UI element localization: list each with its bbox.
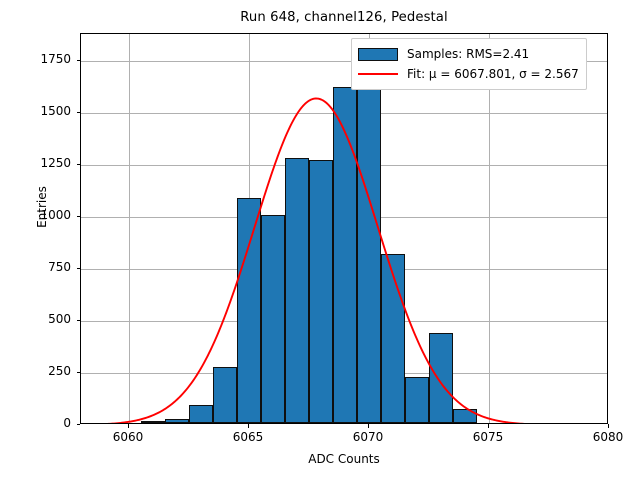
x-tick-label: 6065 — [208, 430, 288, 444]
y-tick-label: 500 — [5, 312, 71, 326]
legend-patch-icon — [358, 48, 398, 61]
x-tick-mark — [128, 424, 129, 428]
figure-canvas: Run 648, channel126, Pedestal Entries AD… — [0, 0, 640, 480]
x-tick-mark — [248, 424, 249, 428]
x-axis-label: ADC Counts — [80, 452, 608, 466]
gaussian-fit-curve — [81, 34, 607, 423]
y-tick-label: 1500 — [5, 104, 71, 118]
x-tick-label: 6075 — [448, 430, 528, 444]
legend-label-fit: Fit: μ = 6067.801, σ = 2.567 — [407, 67, 579, 81]
x-tick-label: 6070 — [328, 430, 408, 444]
y-tick-label: 0 — [5, 416, 71, 430]
legend-line-icon — [358, 67, 398, 81]
x-tick-mark — [608, 424, 609, 428]
x-tick-label: 6080 — [568, 430, 640, 444]
y-tick-label: 1250 — [5, 156, 71, 170]
chart-legend[interactable]: Samples: RMS=2.41 Fit: μ = 6067.801, σ =… — [351, 38, 587, 90]
plot-area — [81, 34, 607, 423]
legend-entry-samples: Samples: RMS=2.41 — [358, 44, 579, 64]
fit-path — [81, 98, 607, 423]
legend-label-samples: Samples: RMS=2.41 — [407, 47, 529, 61]
y-tick-label: 750 — [5, 260, 71, 274]
x-tick-mark — [488, 424, 489, 428]
y-tick-label: 1750 — [5, 52, 71, 66]
x-tick-label: 6060 — [88, 430, 168, 444]
x-tick-mark — [368, 424, 369, 428]
legend-entry-fit: Fit: μ = 6067.801, σ = 2.567 — [358, 64, 579, 84]
y-tick-label: 250 — [5, 364, 71, 378]
y-tick-mark — [77, 424, 81, 425]
plot-axes: Samples: RMS=2.41 Fit: μ = 6067.801, σ =… — [80, 33, 608, 424]
y-tick-label: 1000 — [5, 208, 71, 222]
chart-title: Run 648, channel126, Pedestal — [80, 10, 608, 25]
